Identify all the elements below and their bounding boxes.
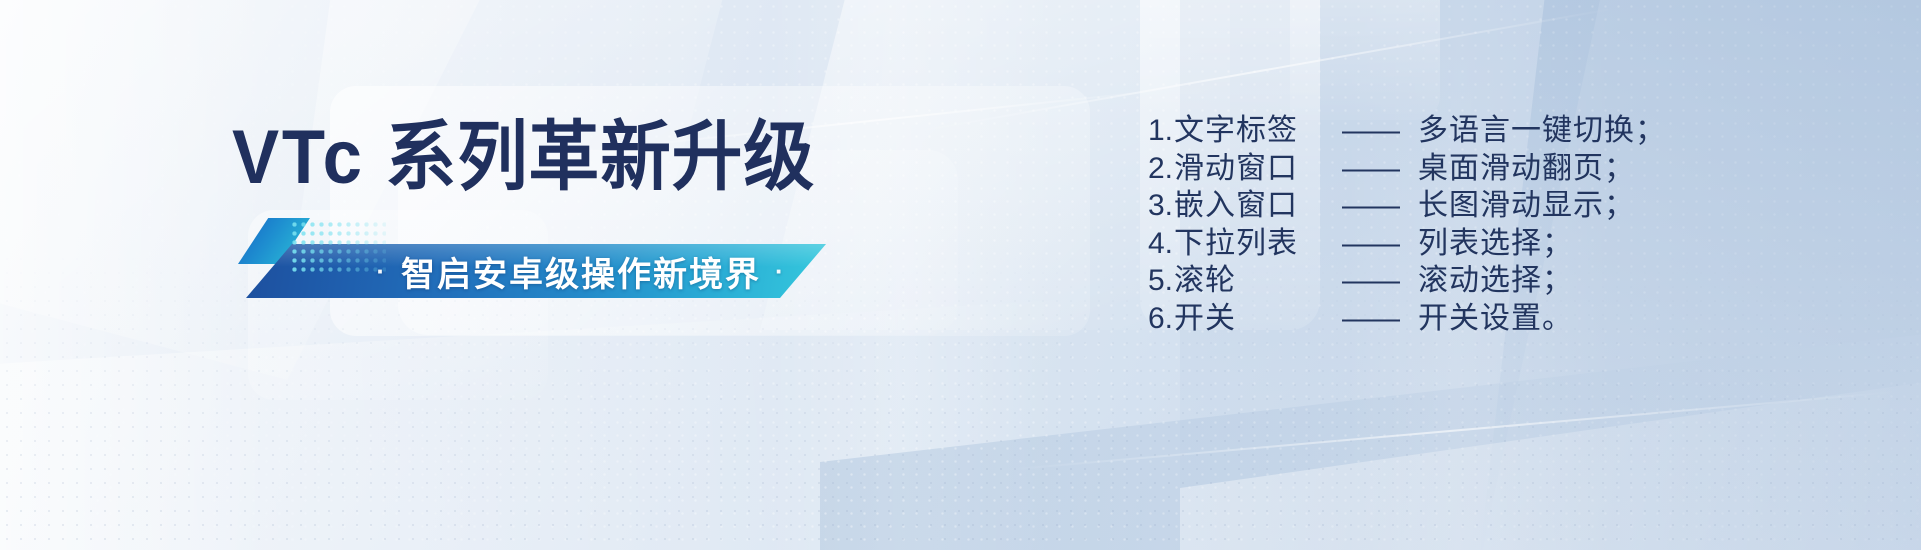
list-item: 1. 文字标签 —— 多语言一键切换； — [1148, 112, 1666, 150]
subtitle-ribbon: · 智启安卓级操作新境界 · — [238, 218, 838, 298]
feature-description: 长图滑动显示； — [1418, 187, 1635, 225]
list-item: 5. 滚轮 —— 滚动选择； — [1148, 262, 1666, 300]
list-item: 2. 滑动窗口 —— 桌面滑动翻页； — [1148, 150, 1666, 188]
page-title-latin: VTc — [232, 115, 365, 200]
feature-index: 5. — [1148, 262, 1174, 300]
feature-dash-icon: —— — [1342, 262, 1418, 300]
feature-description: 列表选择； — [1418, 225, 1573, 263]
list-item: 3. 嵌入窗口 —— 长图滑动显示； — [1148, 187, 1666, 225]
feature-index: 2. — [1148, 150, 1174, 188]
promo-banner: VTc 系列革新升级 · 智启安卓级操作新境界 · 1. 文字标签 —— 多语言… — [0, 0, 1921, 550]
glass-card-5 — [1290, 0, 1440, 120]
feature-dash-icon: —— — [1342, 150, 1418, 188]
feature-description: 多语言一键切换； — [1418, 112, 1666, 150]
subtitle-text-group: · 智启安卓级操作新境界 · — [346, 244, 816, 298]
feature-index: 3. — [1148, 187, 1174, 225]
feature-dash-icon: —— — [1342, 300, 1418, 338]
feature-index: 6. — [1148, 300, 1174, 338]
subtitle-text: 智启安卓级操作新境界 — [401, 247, 761, 296]
feature-name: 下拉列表 — [1174, 225, 1342, 263]
feature-name: 开关 — [1174, 300, 1342, 338]
feature-description: 桌面滑动翻页； — [1418, 150, 1635, 188]
feature-description: 开关设置。 — [1418, 300, 1573, 338]
feature-dash-icon: —— — [1342, 112, 1418, 150]
list-item: 4. 下拉列表 —— 列表选择； — [1148, 225, 1666, 263]
list-item: 6. 开关 —— 开关设置。 — [1148, 300, 1666, 338]
bullet-right-icon: · — [775, 258, 786, 284]
light-streak-3 — [1002, 391, 1899, 471]
feature-dash-icon: —— — [1342, 187, 1418, 225]
page-title-cn: 系列革新升级 — [385, 115, 815, 200]
feature-list: 1. 文字标签 —— 多语言一键切换； 2. 滑动窗口 —— 桌面滑动翻页； 3… — [1148, 112, 1666, 337]
facet-shape-e — [0, 300, 1060, 550]
facet-shape-f — [820, 330, 1921, 550]
feature-description: 滚动选择； — [1418, 262, 1573, 300]
feature-name: 嵌入窗口 — [1174, 187, 1342, 225]
feature-index: 4. — [1148, 225, 1174, 263]
feature-name: 滚轮 — [1174, 262, 1342, 300]
page-title: VTc 系列革新升级 — [232, 120, 815, 196]
feature-index: 1. — [1148, 112, 1174, 150]
facet-shape-h — [1180, 380, 1921, 550]
feature-name: 文字标签 — [1174, 112, 1342, 150]
feature-name: 滑动窗口 — [1174, 150, 1342, 188]
bullet-left-icon: · — [376, 258, 387, 284]
page-title-spacer — [365, 115, 386, 200]
feature-dash-icon: —— — [1342, 225, 1418, 263]
